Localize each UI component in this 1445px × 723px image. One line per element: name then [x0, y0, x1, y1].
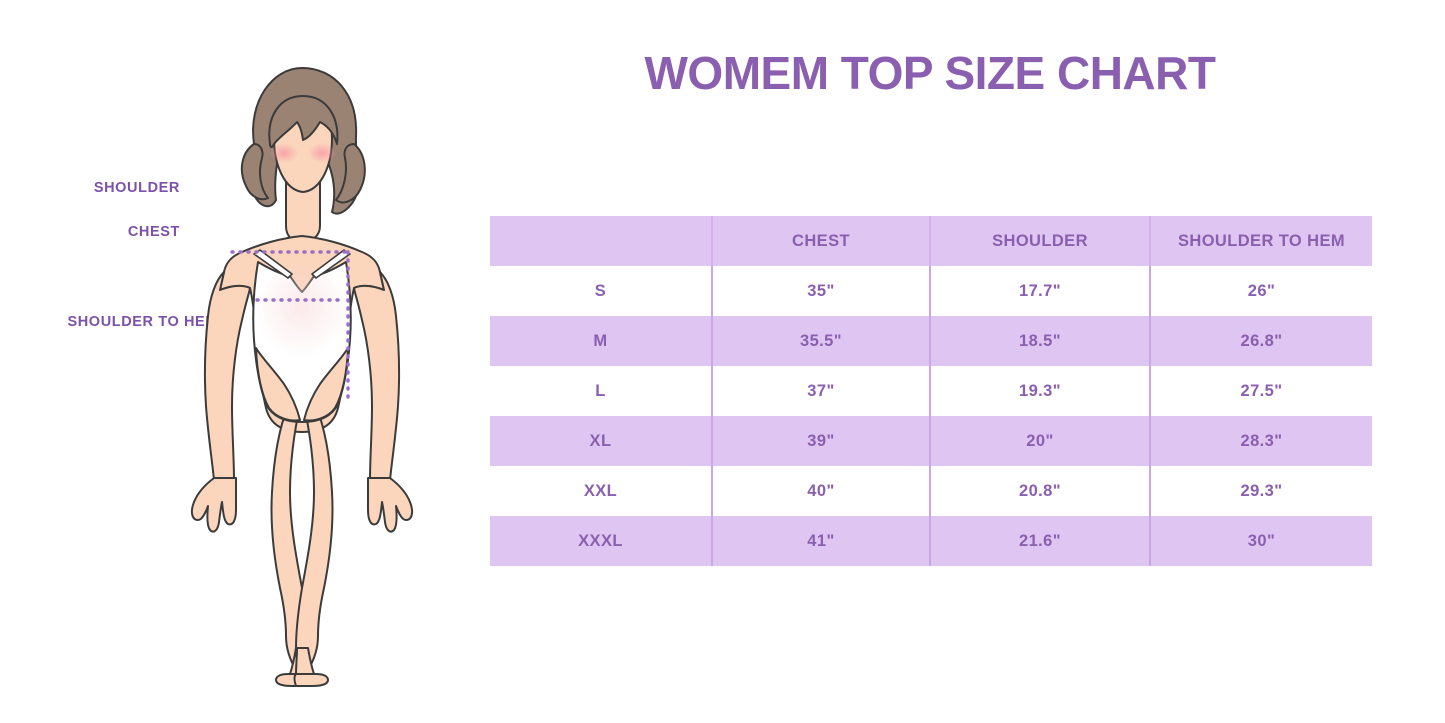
- cell-shoulder-to-hem: 27.5": [1150, 366, 1372, 416]
- blush-left: [270, 143, 298, 163]
- cell-size: M: [490, 316, 712, 366]
- cell-shoulder: 18.5": [930, 316, 1150, 366]
- cell-size: S: [490, 266, 712, 316]
- right-leg-shape: [296, 406, 333, 670]
- cell-shoulder: 21.6": [930, 516, 1150, 566]
- cell-size: XXL: [490, 466, 712, 516]
- cell-chest: 40": [712, 466, 930, 516]
- cell-chest: 35.5": [712, 316, 930, 366]
- cell-chest: 41": [712, 516, 930, 566]
- size-chart-page: WOMEM TOP SIZE CHART SHOULDER CHEST SHOU…: [0, 0, 1445, 723]
- cell-shoulder-to-hem: 28.3": [1150, 416, 1372, 466]
- table-row: L 37" 19.3" 27.5": [490, 366, 1372, 416]
- cell-shoulder-to-hem: 29.3": [1150, 466, 1372, 516]
- column-header-chest: CHEST: [712, 216, 930, 266]
- size-chart-table: CHEST SHOULDER SHOULDER TO HEM S 35" 17.…: [490, 216, 1372, 566]
- cell-shoulder-to-hem: 26.8": [1150, 316, 1372, 366]
- table-row: XL 39" 20" 28.3": [490, 416, 1372, 466]
- cell-shoulder-to-hem: 30": [1150, 516, 1372, 566]
- body-figure-illustration: [150, 40, 450, 690]
- cell-chest: 37": [712, 366, 930, 416]
- column-header-shoulder-to-hem: SHOULDER TO HEM: [1150, 216, 1372, 266]
- table-row: XXL 40" 20.8" 29.3": [490, 466, 1372, 516]
- left-arm-shape: [205, 272, 250, 480]
- table-row: XXXL 41" 21.6" 30": [490, 516, 1372, 566]
- cell-size: L: [490, 366, 712, 416]
- cell-size: XL: [490, 416, 712, 466]
- cell-chest: 39": [712, 416, 930, 466]
- cell-size: XXXL: [490, 516, 712, 566]
- left-hand-shape: [192, 478, 236, 532]
- bust-shading: [258, 266, 346, 358]
- cell-shoulder-to-hem: 26": [1150, 266, 1372, 316]
- column-header-size: [490, 216, 712, 266]
- cell-shoulder: 19.3": [930, 366, 1150, 416]
- column-header-shoulder: SHOULDER: [930, 216, 1150, 266]
- table-row: S 35" 17.7" 26": [490, 266, 1372, 316]
- table-header-row: CHEST SHOULDER SHOULDER TO HEM: [490, 216, 1372, 266]
- cell-shoulder: 20": [930, 416, 1150, 466]
- page-title: WOMEM TOP SIZE CHART: [480, 46, 1380, 100]
- cell-shoulder: 17.7": [930, 266, 1150, 316]
- right-arm-shape: [354, 272, 399, 480]
- right-hand-shape: [368, 478, 412, 532]
- cell-chest: 35": [712, 266, 930, 316]
- figure-body-group: [192, 68, 412, 686]
- table-row: M 35.5" 18.5" 26.8": [490, 316, 1372, 366]
- blush-right: [308, 143, 336, 163]
- cell-shoulder: 20.8": [930, 466, 1150, 516]
